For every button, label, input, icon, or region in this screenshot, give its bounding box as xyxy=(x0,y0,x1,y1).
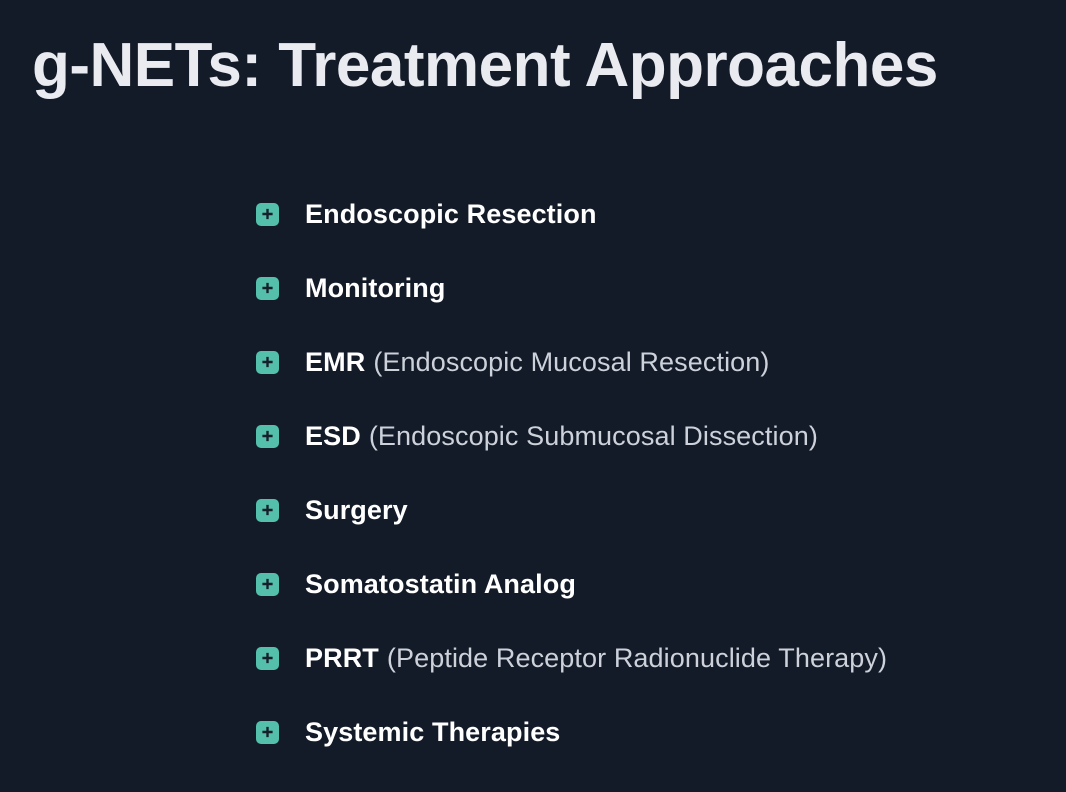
list-item[interactable]: Monitoring xyxy=(256,270,1046,306)
list-item-text: Systemic Therapies xyxy=(305,716,560,748)
list-item[interactable]: Systemic Therapies xyxy=(256,714,1046,750)
plus-square-icon[interactable] xyxy=(256,721,279,744)
list-item-detail: (Peptide Receptor Radionuclide Therapy) xyxy=(387,642,887,674)
list-item[interactable]: PRRT (Peptide Receptor Radionuclide Ther… xyxy=(256,640,1046,676)
list-item-label: Somatostatin Analog xyxy=(305,568,576,600)
plus-square-icon[interactable] xyxy=(256,351,279,374)
list-item-label: Monitoring xyxy=(305,272,445,304)
list-item-label: Surgery xyxy=(305,494,408,526)
list-item[interactable]: Surgery xyxy=(256,492,1046,528)
list-item-text: PRRT (Peptide Receptor Radionuclide Ther… xyxy=(305,642,887,674)
treatment-approach-list: Endoscopic Resection Monitoring xyxy=(256,196,1046,750)
plus-square-icon[interactable] xyxy=(256,647,279,670)
list-item[interactable]: ESD (Endoscopic Submucosal Dissection) xyxy=(256,418,1046,454)
list-item-label: Endoscopic Resection xyxy=(305,198,597,230)
list-item-text: EMR (Endoscopic Mucosal Resection) xyxy=(305,346,770,378)
list-item-text: Monitoring xyxy=(305,272,445,304)
list-item-label: Systemic Therapies xyxy=(305,716,560,748)
plus-square-icon[interactable] xyxy=(256,425,279,448)
list-item-label: ESD xyxy=(305,420,361,452)
list-item-text: Endoscopic Resection xyxy=(305,198,597,230)
page-title: g-NETs: Treatment Approaches xyxy=(32,33,1032,100)
list-item-label: PRRT xyxy=(305,642,379,674)
slide-root: g-NETs: Treatment Approaches Endoscopic … xyxy=(0,0,1066,792)
list-item[interactable]: EMR (Endoscopic Mucosal Resection) xyxy=(256,344,1046,380)
list-item-detail: (Endoscopic Submucosal Dissection) xyxy=(369,420,818,452)
list-item[interactable]: Somatostatin Analog xyxy=(256,566,1046,602)
list-item[interactable]: Endoscopic Resection xyxy=(256,196,1046,232)
list-item-text: Surgery xyxy=(305,494,408,526)
list-item-label: EMR xyxy=(305,346,365,378)
list-item-text: Somatostatin Analog xyxy=(305,568,576,600)
list-item-text: ESD (Endoscopic Submucosal Dissection) xyxy=(305,420,818,452)
plus-square-icon[interactable] xyxy=(256,277,279,300)
plus-square-icon[interactable] xyxy=(256,499,279,522)
plus-square-icon[interactable] xyxy=(256,203,279,226)
list-item-detail: (Endoscopic Mucosal Resection) xyxy=(373,346,769,378)
plus-square-icon[interactable] xyxy=(256,573,279,596)
